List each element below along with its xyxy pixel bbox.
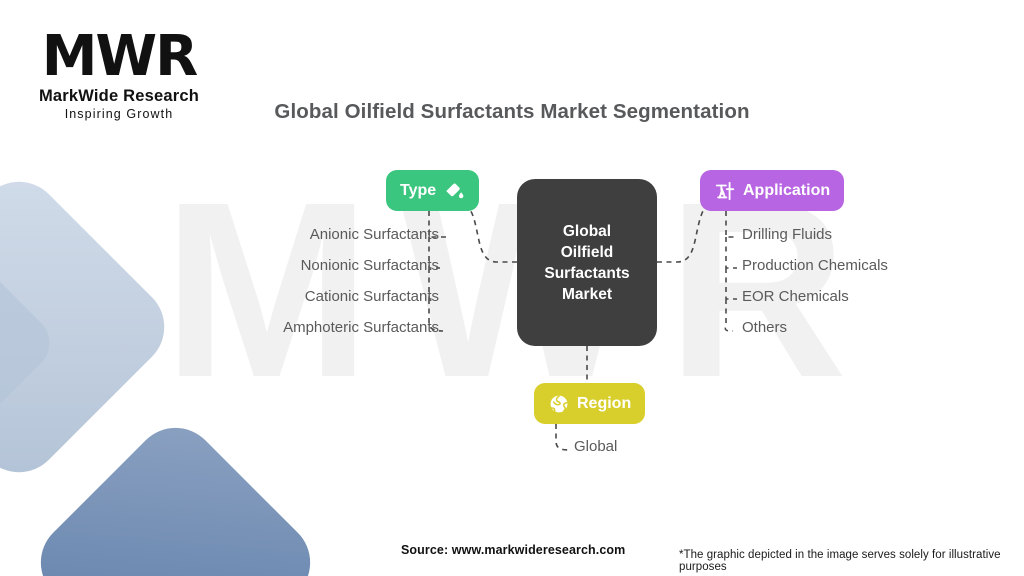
branch-badge-region-label: Region: [577, 395, 631, 413]
logo-mark-icon: MWR: [24, 28, 214, 86]
page-title: Global Oilfield Surfactants Market Segme…: [0, 100, 1024, 124]
branch-item-type-0: Anionic Surfactants: [310, 226, 439, 244]
branch-items-application: Drilling Fluids Production Chemicals EOR…: [742, 226, 1002, 346]
disclaimer-note: *The graphic depicted in the image serve…: [679, 549, 1024, 573]
globe-icon: [548, 393, 570, 415]
infographic-canvas: MWR MWR MarkWide Research Inspiring Grow…: [0, 0, 1024, 576]
branch-item-type-3: Amphoteric Surfactants: [283, 319, 439, 337]
branch-badge-application-label: Application: [743, 182, 830, 200]
center-node: Global Oilfield Surfactants Market: [517, 179, 657, 346]
branch-items-type: Anionic Surfactants Nonionic Surfactants…: [139, 226, 439, 346]
branch-item-application-0: Drilling Fluids: [742, 226, 832, 244]
branch-item-application-3: Others: [742, 319, 787, 337]
oil-pumpjack-icon: [714, 180, 736, 202]
center-node-label: Global Oilfield Surfactants Market: [544, 221, 629, 305]
branch-item-application-2: EOR Chemicals: [742, 288, 849, 306]
branch-items-region: Global: [574, 438, 734, 462]
branch-item-type-2: Cationic Surfactants: [305, 288, 439, 306]
branch-badge-type-label: Type: [400, 182, 436, 200]
source-note: Source: www.markwideresearch.com: [401, 543, 625, 557]
branch-badge-application[interactable]: Application: [700, 170, 844, 211]
branch-item-application-1: Production Chemicals: [742, 257, 888, 275]
branch-item-region-0: Global: [574, 438, 617, 456]
branch-item-type-1: Nonionic Surfactants: [301, 257, 439, 275]
oil-drop-icon: [443, 180, 465, 202]
branch-badge-region[interactable]: Region: [534, 383, 645, 424]
branch-badge-type[interactable]: Type: [386, 170, 479, 211]
